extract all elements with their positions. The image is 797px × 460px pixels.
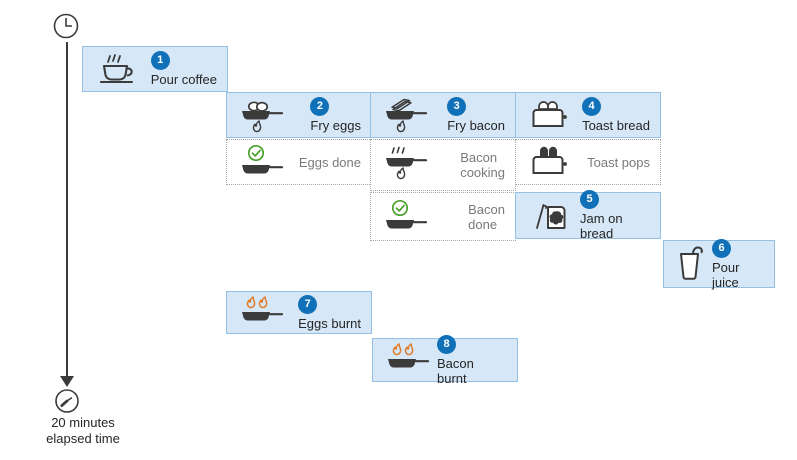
- step-label: Fry bacon: [447, 118, 505, 133]
- step-card-fry-bacon[interactable]: 3 Fry bacon: [370, 92, 516, 138]
- juice-glass-icon: [672, 244, 712, 284]
- jam-bread-icon: [524, 196, 580, 236]
- event-label: Bacon done: [468, 202, 505, 232]
- event-meta: Toast pops: [580, 140, 652, 184]
- pan-burnt-icon: [381, 340, 437, 380]
- stopwatch-icon: [53, 386, 81, 414]
- step-badge: 2: [310, 97, 329, 116]
- pan-check-icon: [235, 142, 291, 182]
- step-meta: 6 Pour juice: [712, 241, 766, 287]
- step-label: Pour juice: [712, 260, 764, 290]
- step-card-pour-coffee[interactable]: 1 Pour coffee: [82, 46, 228, 92]
- pan-eggs-icon: [235, 95, 291, 135]
- coffee-cup-icon: [91, 49, 147, 89]
- step-badge: 3: [447, 97, 466, 116]
- step-meta: 1 Pour coffee: [147, 47, 219, 91]
- step-badge: 5: [580, 190, 599, 209]
- clock-icon: [52, 12, 80, 40]
- pan-bacon-icon: [379, 95, 435, 135]
- step-label: Bacon burnt: [437, 356, 507, 386]
- step-meta: 7 Eggs burnt: [291, 292, 363, 333]
- step-card-jam-on-bread[interactable]: 5 Jam on bread: [515, 192, 661, 239]
- event-card-toast-pops: Toast pops: [515, 139, 661, 185]
- step-label: Fry eggs: [310, 118, 361, 133]
- elapsed-time-label: 20 minutes elapsed time: [28, 415, 138, 447]
- event-label: Toast pops: [587, 155, 650, 170]
- step-badge: 6: [712, 239, 731, 258]
- event-label: Eggs done: [299, 155, 361, 170]
- step-label: Pour coffee: [151, 72, 217, 87]
- step-label: Toast bread: [582, 118, 650, 133]
- pan-burnt-icon: [235, 293, 291, 333]
- step-meta: 2 Fry eggs: [291, 93, 363, 137]
- event-card-bacon-done: Bacon done: [370, 192, 516, 241]
- step-card-pour-juice[interactable]: 6 Pour juice: [663, 240, 775, 288]
- event-meta: Bacon done: [435, 193, 507, 240]
- step-meta: 4 Toast bread: [580, 93, 652, 137]
- step-card-bacon-burnt[interactable]: 8 Bacon burnt: [372, 338, 518, 382]
- step-meta: 8 Bacon burnt: [437, 339, 509, 381]
- event-meta: Eggs done: [291, 140, 363, 184]
- step-card-toast-bread[interactable]: 4 Toast bread: [515, 92, 661, 138]
- event-card-bacon-cooking: Bacon cooking: [370, 139, 516, 191]
- step-badge: 4: [582, 97, 601, 116]
- event-card-eggs-done: Eggs done: [226, 139, 372, 185]
- step-card-fry-eggs[interactable]: 2 Fry eggs: [226, 92, 372, 138]
- toaster-icon: [524, 95, 580, 135]
- toaster-pop-icon: [524, 142, 580, 182]
- step-label: Jam on bread: [580, 211, 650, 241]
- event-label: Bacon cooking: [460, 150, 505, 180]
- step-badge: 7: [298, 295, 317, 314]
- step-badge: 1: [151, 51, 170, 70]
- step-badge: 8: [437, 335, 456, 354]
- step-card-eggs-burnt[interactable]: 7 Eggs burnt: [226, 291, 372, 334]
- timeline-axis: [66, 42, 68, 382]
- step-meta: 5 Jam on bread: [580, 193, 652, 238]
- step-label: Eggs burnt: [298, 316, 361, 331]
- event-meta: Bacon cooking: [435, 140, 507, 190]
- pan-check-icon: [379, 197, 435, 237]
- pan-steam-icon: [379, 145, 435, 185]
- step-meta: 3 Fry bacon: [435, 93, 507, 137]
- diagram-canvas: 20 minutes elapsed time 1 Pour coffee: [0, 0, 797, 460]
